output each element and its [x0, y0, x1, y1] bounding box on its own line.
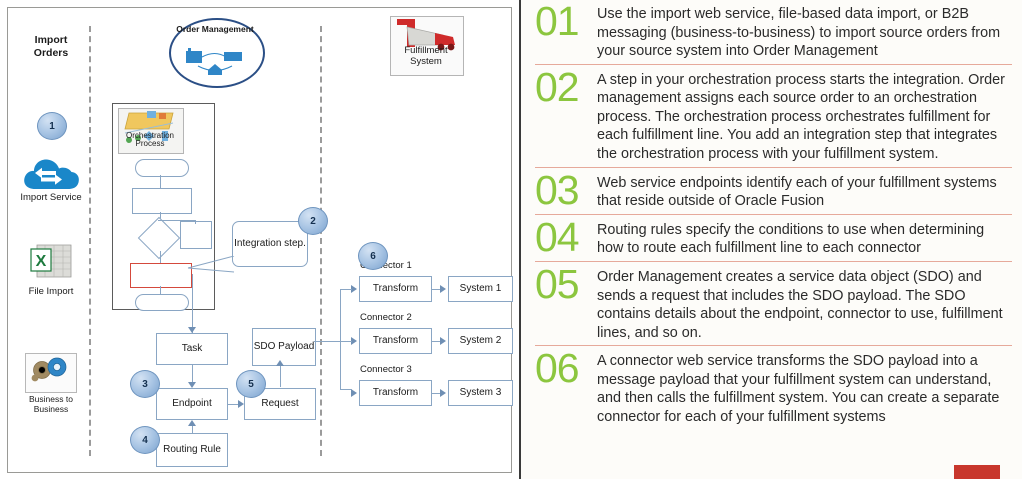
diagram-frame: Import Orders 1 Import Service [7, 7, 512, 473]
routing-rule-box: Routing Rule [156, 433, 228, 467]
callout-leader-lines [186, 256, 236, 278]
gears-b2b-icon [25, 353, 77, 393]
diagram-divider-left [89, 26, 91, 456]
line-routing-to-endpoint [192, 426, 193, 434]
connector-3-system-box: System 3 [448, 380, 513, 406]
step-description: A connector web service transforms the S… [597, 349, 1012, 426]
step-number: 05 [535, 265, 597, 304]
step-description: Routing rules specify the conditions to … [597, 218, 1012, 258]
arrow-to-request [238, 400, 244, 408]
step-number: 04 [535, 218, 597, 257]
flow-line-6 [160, 286, 161, 294]
bus-branch-3 [340, 389, 352, 390]
connector-3-label: Connector 3 [360, 364, 412, 375]
business-to-business-label: Business to Business [18, 394, 84, 414]
step-number: 01 [535, 2, 597, 41]
step-bubble-4: 4 [130, 426, 160, 454]
order-management-glyph [184, 46, 246, 76]
arrow-to-system-2 [440, 337, 446, 345]
connector-2-system-box: System 2 [448, 328, 513, 354]
flow-line-3 [158, 220, 196, 221]
cloud-import-icon [22, 156, 80, 190]
step-row: 06 A connector web service transforms th… [535, 345, 1012, 429]
step-row: 04 Routing rules specify the conditions … [535, 214, 1012, 261]
step-row: 01 Use the import web service, file-base… [535, 0, 1012, 64]
line-integration-to-task [192, 274, 193, 333]
flow-task-node [132, 188, 192, 214]
file-import-label: File Import [22, 286, 80, 297]
task-box: Task [156, 333, 228, 365]
arrow-to-sdo [276, 360, 284, 366]
bus-branch-2 [340, 341, 352, 342]
flow-line-5 [160, 251, 161, 263]
step-description: Web service endpoints identify each of y… [597, 171, 1012, 211]
step-row: 02 A step in your orchestration process … [535, 64, 1012, 167]
flow-start-node [135, 159, 189, 177]
flow-end-node [135, 294, 189, 311]
connector-2-transform-box: Transform [359, 328, 432, 354]
steps-panel: 01 Use the import web service, file-base… [521, 0, 1022, 479]
step-bubble-1: 1 [37, 112, 67, 140]
step-bubble-5: 5 [236, 370, 266, 398]
connector-2-label: Connector 2 [360, 312, 412, 323]
arrow-to-transform-3 [351, 389, 357, 397]
page-root: Import Orders 1 Import Service [0, 0, 1022, 479]
flow-integration-step-node [130, 263, 192, 288]
sdo-payload-box: SDO Payload [252, 328, 316, 366]
step-bubble-3: 3 [130, 370, 160, 398]
bus-branch-1 [340, 289, 352, 290]
step-row: 05 Order Management creates a service da… [535, 261, 1012, 345]
line-task-to-endpoint [192, 365, 193, 382]
connector-1-system-box: System 1 [448, 276, 513, 302]
connector-bus-vertical [340, 289, 341, 390]
step-number: 03 [535, 171, 597, 210]
endpoint-box: Endpoint [156, 388, 228, 420]
import-orders-title: Import Orders [20, 34, 82, 60]
step-bubble-6: 6 [358, 242, 388, 270]
fulfillment-system-label: Fulfillment System [388, 46, 464, 68]
excel-spreadsheet-icon: X [29, 243, 73, 283]
connector-1-transform-box: Transform [359, 276, 432, 302]
step-row: 03 Web service endpoints identify each o… [535, 167, 1012, 214]
orchestration-process-icon-label: Orchestration Process [114, 132, 186, 149]
step-bubble-2: 2 [298, 207, 328, 235]
line-request-to-sdo [280, 365, 281, 387]
order-management-label: Order Management [169, 24, 261, 34]
connector-3-transform-box: Transform [359, 380, 432, 406]
import-service-item: Import Service [16, 156, 86, 203]
svg-text:X: X [36, 253, 47, 270]
business-to-business-item: Business to Business [18, 353, 84, 414]
arrow-to-system-1 [440, 285, 446, 293]
flow-branch-node [180, 221, 212, 249]
integration-step-callout: Integration step. [232, 221, 308, 267]
import-service-label: Import Service [16, 192, 86, 203]
diagram-panel: Import Orders 1 Import Service [0, 0, 521, 479]
flow-line-1 [160, 175, 161, 188]
step-number: 02 [535, 68, 597, 107]
step-description: Order Management creates a service data … [597, 265, 1012, 342]
footer-accent-swatch [954, 465, 1000, 479]
diagram-divider-right [320, 26, 322, 456]
flow-line-4 [195, 220, 196, 224]
arrow-to-endpoint-from-routing [188, 420, 196, 426]
arrow-to-system-3 [440, 389, 446, 397]
step-number: 06 [535, 349, 597, 388]
step-description: A step in your orchestration process sta… [597, 68, 1012, 164]
step-description: Use the import web service, file-based d… [597, 2, 1012, 61]
line-sdo-to-bus [314, 341, 341, 342]
file-import-item: X File Import [22, 243, 80, 297]
